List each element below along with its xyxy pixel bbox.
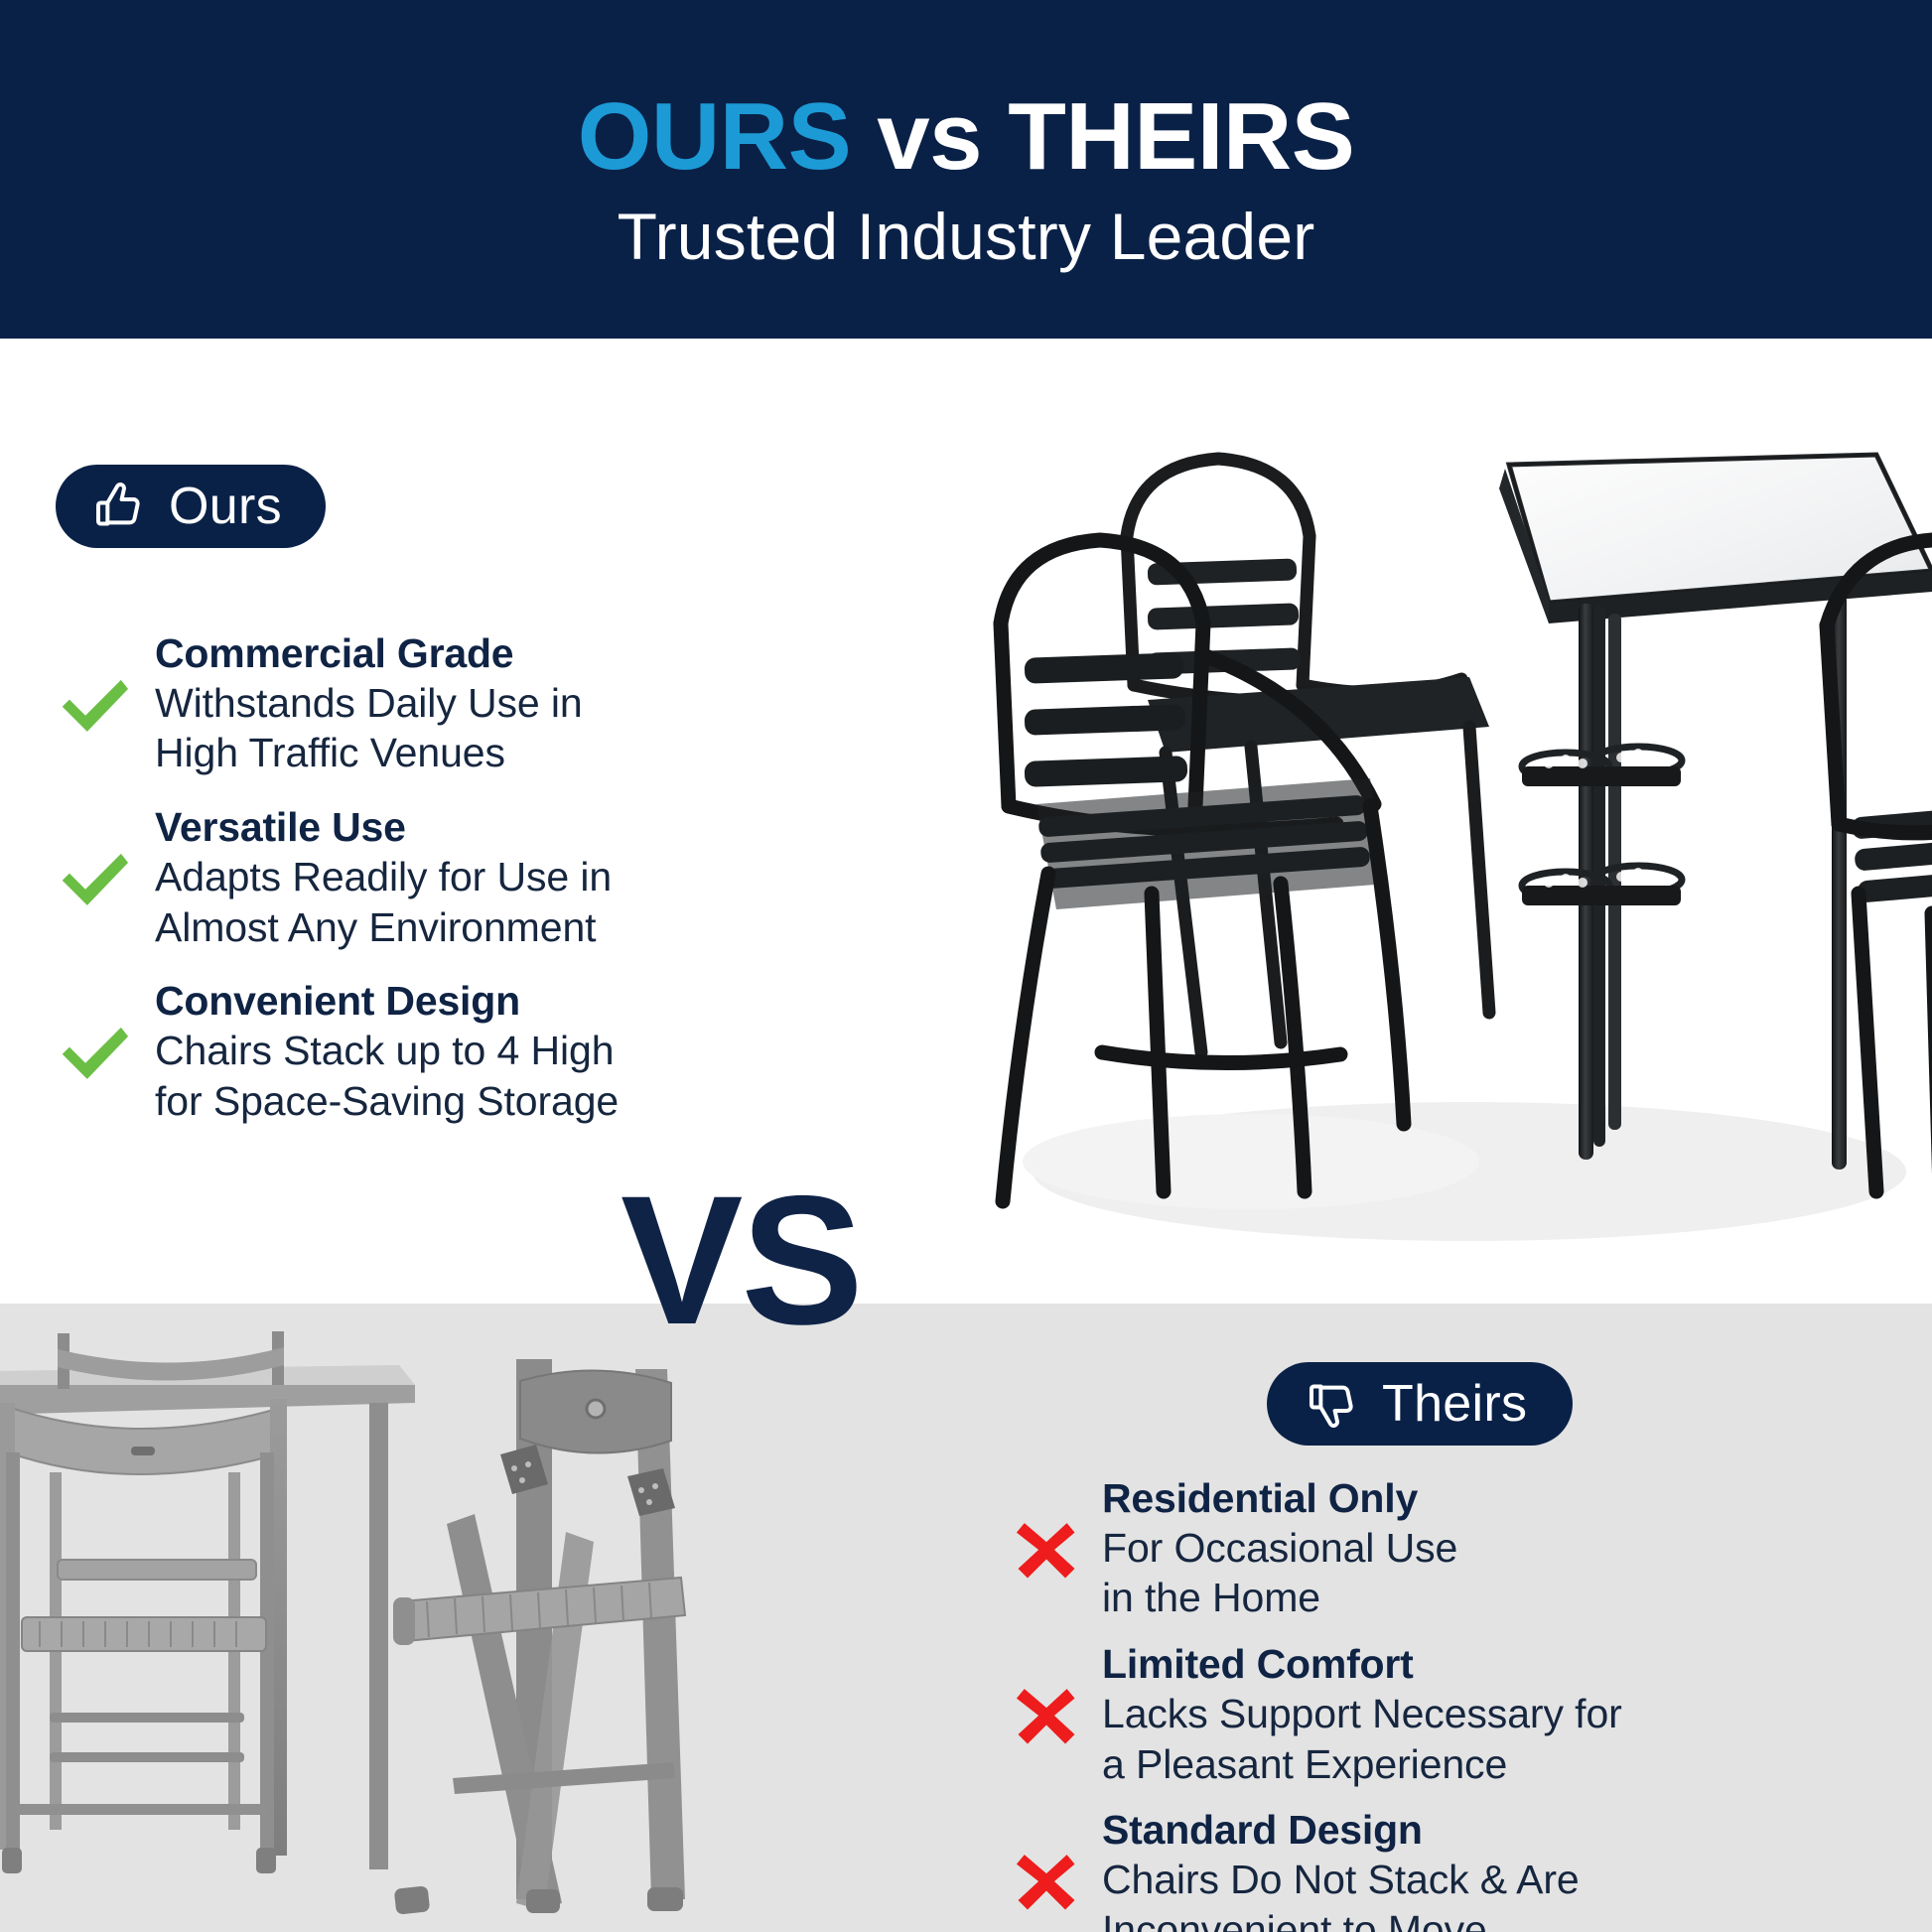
list-item-text: Standard Design Chairs Do Not Stack & Ar… (1102, 1807, 1932, 1932)
page-subtitle: Trusted Industry Leader (618, 203, 1315, 271)
list-item-title: Standard Design (1102, 1807, 1932, 1855)
list-item-title: Versatile Use (155, 804, 687, 852)
x-icon (1009, 1512, 1084, 1587)
list-item-title: Residential Only (1102, 1475, 1932, 1523)
list-item: Convenient Design Chairs Stack up to 4 H… (52, 978, 687, 1126)
list-item-text: Commercial Grade Withstands Daily Use in… (155, 630, 687, 778)
list-item: Commercial Grade Withstands Daily Use in… (52, 630, 687, 778)
list-item-title: Limited Comfort (1102, 1641, 1932, 1689)
check-icon (52, 662, 137, 748)
x-icon (1009, 1844, 1084, 1919)
list-item-desc-line2: for Space-Saving Storage (155, 1076, 687, 1127)
list-item-text: Residential Only For Occasional Use in t… (1102, 1475, 1932, 1623)
theirs-badge: Theirs (1267, 1362, 1573, 1446)
ours-badge: Ours (56, 465, 326, 548)
title-vs: vs (877, 83, 982, 190)
list-item-title: Convenient Design (155, 978, 687, 1026)
list-item-desc-line1: Withstands Daily Use in (155, 678, 687, 729)
list-item-desc-line2: High Traffic Venues (155, 728, 687, 778)
list-item-title: Commercial Grade (155, 630, 687, 678)
list-item-desc-line1: Chairs Do Not Stack & Are (1102, 1855, 1932, 1905)
title-theirs: THEIRS (1008, 83, 1354, 190)
list-item-text: Versatile Use Adapts Readily for Use in … (155, 804, 687, 952)
list-item-text: Convenient Design Chairs Stack up to 4 H… (155, 978, 687, 1126)
thumbs-up-icon (91, 479, 147, 534)
page-title: OURS vs THEIRS (578, 89, 1355, 185)
infographic-page: OURS vs THEIRS Trusted Industry Leader (0, 0, 1932, 1932)
list-item-desc-line1: Lacks Support Necessary for (1102, 1689, 1932, 1739)
list-item-desc-line2: a Pleasant Experience (1102, 1739, 1932, 1790)
check-icon (52, 836, 137, 921)
x-icon (1009, 1678, 1084, 1753)
list-item-desc-line2: Almost Any Environment (155, 902, 687, 953)
list-item-desc-line2: Inconvenient to Move (1102, 1905, 1932, 1932)
list-item-desc-line1: Adapts Readily for Use in (155, 852, 687, 902)
ours-product-photo (953, 357, 1932, 1304)
vs-divider-label: VS (621, 1170, 862, 1353)
list-item: Versatile Use Adapts Readily for Use in … (52, 804, 687, 952)
check-icon (52, 1010, 137, 1095)
list-item-text: Limited Comfort Lacks Support Necessary … (1102, 1641, 1932, 1789)
drawer-pull (131, 1447, 155, 1455)
list-item: Standard Design Chairs Do Not Stack & Ar… (1009, 1807, 1932, 1932)
list-item: Limited Comfort Lacks Support Necessary … (1009, 1641, 1932, 1789)
list-item: Residential Only For Occasional Use in t… (1009, 1475, 1932, 1623)
thumbs-down-icon (1305, 1376, 1360, 1432)
title-ours: OURS (578, 83, 851, 190)
theirs-badge-label: Theirs (1382, 1378, 1527, 1430)
list-item-desc-line1: Chairs Stack up to 4 High (155, 1026, 687, 1076)
list-item-desc-line1: For Occasional Use (1102, 1523, 1932, 1574)
theirs-product-photo (0, 1304, 695, 1932)
list-item-desc-line2: in the Home (1102, 1573, 1932, 1623)
theirs-drawbacks-list: Residential Only For Occasional Use in t… (1009, 1475, 1932, 1932)
ours-benefits-list: Commercial Grade Withstands Daily Use in… (52, 630, 687, 1127)
header-banner: OURS vs THEIRS Trusted Industry Leader (0, 0, 1932, 339)
ours-badge-label: Ours (169, 481, 282, 532)
